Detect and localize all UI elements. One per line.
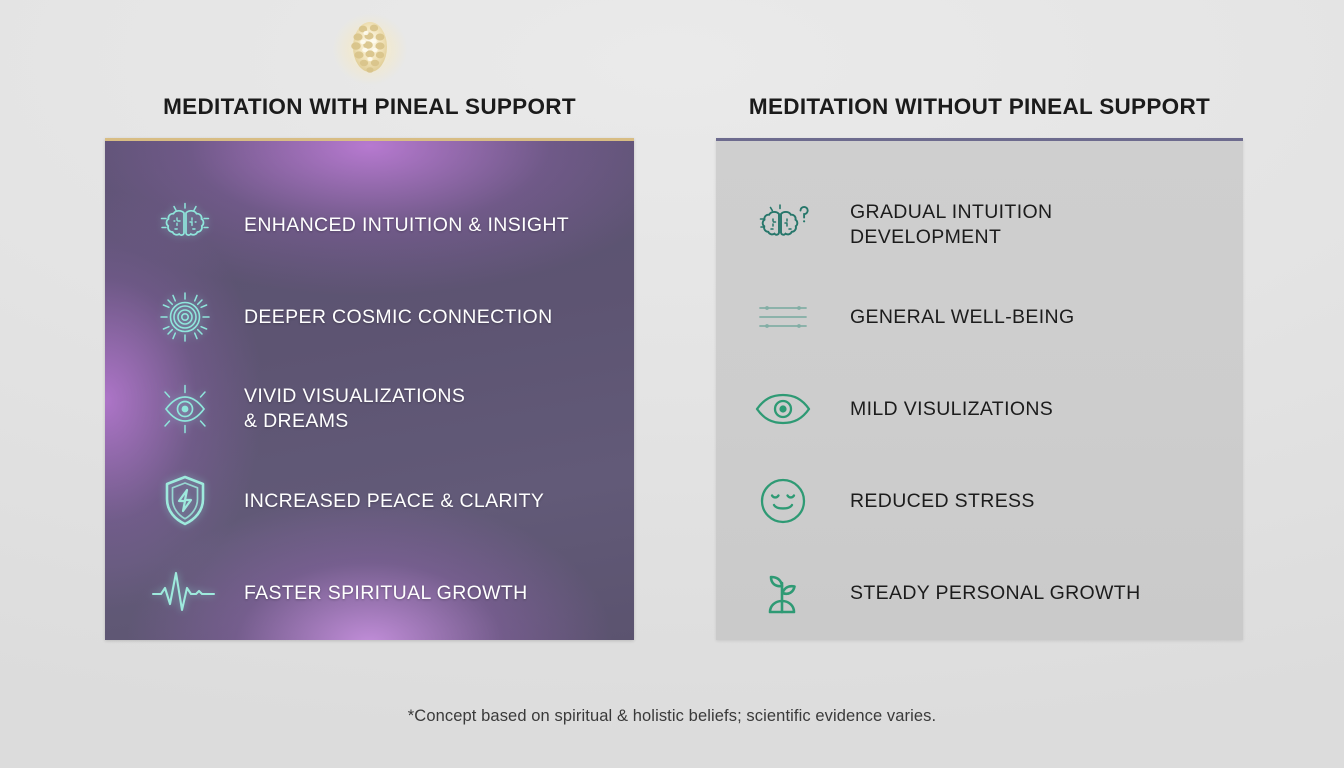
list-item[interactable]: FASTER SPIRITUAL GROWTH bbox=[105, 547, 634, 639]
pinecone-icon bbox=[344, 17, 396, 81]
benefit-list-without-support: GRADUAL INTUITION DEVELOPMENT GENERAL WE… bbox=[716, 141, 1243, 639]
list-item-label: REDUCED STRESS bbox=[850, 489, 1035, 514]
list-item-label: ENHANCED INTUITION & INSIGHT bbox=[244, 213, 569, 238]
list-item-label: DEEPER COSMIC CONNECTION bbox=[244, 305, 553, 330]
list-item[interactable]: ENHANCED INTUITION & INSIGHT bbox=[105, 179, 634, 271]
pulse-waveform-icon bbox=[148, 562, 222, 624]
eye-icon bbox=[746, 378, 820, 440]
list-item-label: FASTER SPIRITUAL GROWTH bbox=[244, 581, 528, 606]
third-eye-rays-icon bbox=[148, 378, 222, 440]
cosmic-spiral-sun-icon bbox=[148, 286, 222, 348]
sprout-icon bbox=[746, 562, 820, 624]
list-item-label: INCREASED PEACE & CLARITY bbox=[244, 489, 544, 514]
list-item-label: MILD VISULIZATIONS bbox=[850, 397, 1053, 422]
pinecone-glow bbox=[325, 8, 415, 90]
list-item-label: STEADY PERSONAL GROWTH bbox=[850, 581, 1141, 606]
pineal-logo bbox=[0, 8, 740, 90]
smiley-face-icon bbox=[746, 470, 820, 532]
column-title-without-support: MEDITATION WITHOUT PINEAL SUPPORT bbox=[716, 94, 1243, 120]
brain-question-mark-icon bbox=[746, 194, 820, 256]
list-item[interactable]: REDUCED STRESS bbox=[716, 455, 1243, 547]
list-item[interactable]: GRADUAL INTUITION DEVELOPMENT bbox=[716, 179, 1243, 271]
list-item[interactable]: DEEPER COSMIC CONNECTION bbox=[105, 271, 634, 363]
list-item[interactable]: MILD VISULIZATIONS bbox=[716, 363, 1243, 455]
list-item[interactable]: STEADY PERSONAL GROWTH bbox=[716, 547, 1243, 639]
list-item[interactable]: INCREASED PEACE & CLARITY bbox=[105, 455, 634, 547]
footnote-disclaimer: *Concept based on spiritual & holistic b… bbox=[0, 707, 1344, 726]
list-item-label: VIVID VISUALIZATIONS & DREAMS bbox=[244, 384, 465, 434]
balance-lines-icon bbox=[746, 286, 820, 348]
panel-with-pineal-support: ENHANCED INTUITION & INSIGHT DEEPER COSM… bbox=[105, 138, 634, 640]
list-item[interactable]: VIVID VISUALIZATIONS & DREAMS bbox=[105, 363, 634, 455]
list-item[interactable]: GENERAL WELL-BEING bbox=[716, 271, 1243, 363]
brain-radiating-icon bbox=[148, 194, 222, 256]
list-item-label: GRADUAL INTUITION DEVELOPMENT bbox=[850, 200, 1052, 250]
shield-lightning-icon bbox=[148, 470, 222, 532]
panel-without-pineal-support: GRADUAL INTUITION DEVELOPMENT GENERAL WE… bbox=[716, 138, 1243, 640]
column-title-with-support: MEDITATION WITH PINEAL SUPPORT bbox=[105, 94, 634, 120]
list-item-label: GENERAL WELL-BEING bbox=[850, 305, 1074, 330]
benefit-list-with-support: ENHANCED INTUITION & INSIGHT DEEPER COSM… bbox=[105, 141, 634, 639]
